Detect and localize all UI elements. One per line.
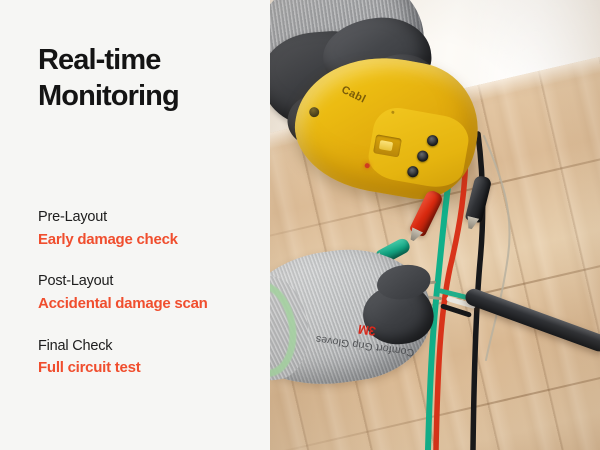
feature-value: Full circuit test [38, 357, 263, 380]
feature-item-final-check: Final Check Full circuit test [38, 336, 263, 380]
feature-list: Pre-Layout Early damage check Post-Layou… [38, 207, 263, 380]
feature-label: Final Check [38, 336, 263, 358]
wire-bare-strand [484, 136, 510, 360]
feature-item-post-layout: Post-Layout Accidental damage scan [38, 271, 263, 315]
feature-label: Post-Layout [38, 271, 263, 293]
page-title: Real-time Monitoring [38, 43, 253, 115]
product-photo: Cabl Comfort Grip Gloves 3M [270, 0, 600, 450]
text-panel: Real-time Monitoring Pre-Layout Early da… [0, 0, 270, 450]
page-title-line-1: Real-time [38, 43, 253, 79]
feature-label: Pre-Layout [38, 207, 263, 229]
feature-value: Early damage check [38, 229, 263, 252]
page-title-line-2: Monitoring [38, 79, 253, 115]
promo-banner: Real-time Monitoring Pre-Layout Early da… [0, 0, 600, 450]
gloved-hand-lower: Comfort Grip Gloves 3M [270, 230, 461, 418]
feature-item-pre-layout: Pre-Layout Early damage check [38, 207, 263, 251]
feature-value: Accidental damage scan [38, 293, 263, 316]
